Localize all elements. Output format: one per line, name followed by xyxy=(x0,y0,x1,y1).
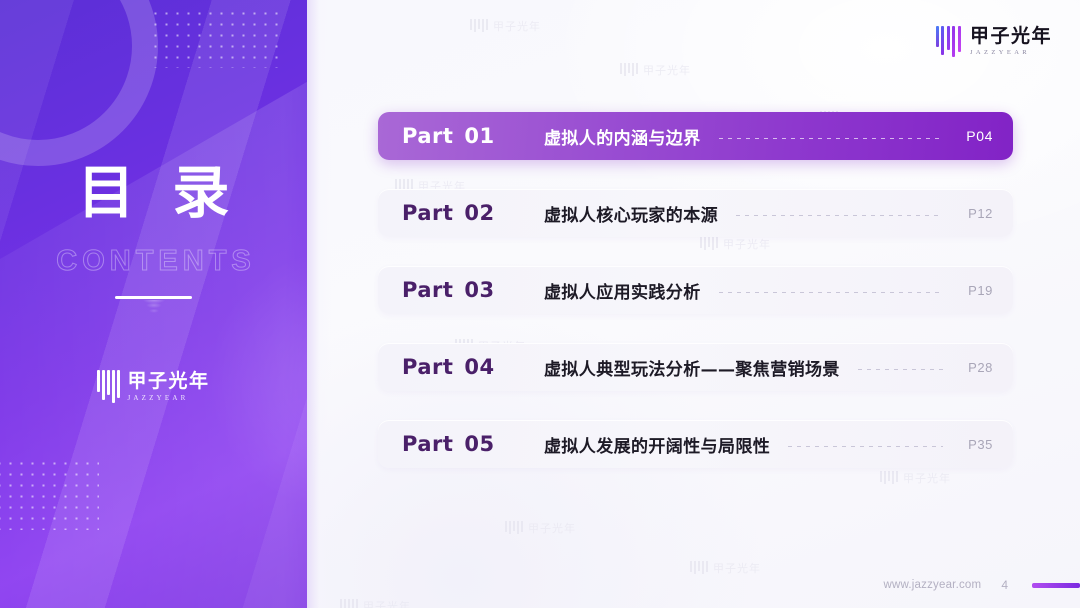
brand-logo-header: 甲子光年 JAZZYEAR xyxy=(936,26,1052,58)
toc-part-number: 03 xyxy=(464,278,494,302)
toc-part-number: 02 xyxy=(464,201,494,225)
toc-dotted-leader xyxy=(788,446,943,447)
toc-entry-title: 虚拟人核心玩家的本源 xyxy=(544,201,718,226)
page-title-english: CONTENTS xyxy=(0,247,307,276)
toc-page-number: P28 xyxy=(961,360,993,375)
left-cover-panel: 目 录 CONTENTS 甲子光年 JAZZYEAR xyxy=(0,0,307,608)
toc-part-word: Part xyxy=(402,355,453,379)
page-title: 目 录 xyxy=(0,165,307,222)
toc-dotted-leader xyxy=(719,292,943,293)
toc-part-label: Part03 xyxy=(402,278,524,302)
toc-row-04[interactable]: Part04虚拟人典型玩法分析——聚焦营销场景P28 xyxy=(378,343,1013,391)
toc-page-number: P19 xyxy=(961,283,993,298)
toc-row-01[interactable]: Part01虚拟人的内涵与边界P04 xyxy=(378,112,1013,160)
toc-row-03[interactable]: Part03虚拟人应用实践分析P19 xyxy=(378,266,1013,314)
toc-dotted-leader xyxy=(736,215,943,216)
toc-part-label: Part05 xyxy=(402,432,524,456)
footer-accent-bar xyxy=(1032,583,1080,588)
toc-entry-title: 虚拟人的内涵与边界 xyxy=(544,124,701,149)
table-of-contents: Part01虚拟人的内涵与边界P04Part02虚拟人核心玩家的本源P12Par… xyxy=(378,112,1013,468)
wave-accent-icon xyxy=(138,300,170,324)
toc-part-word: Part xyxy=(402,432,453,456)
toc-part-number: 04 xyxy=(464,355,494,379)
slide-root: 甲子光年甲子光年甲子光年甲子光年甲子光年甲子光年甲子光年甲子光年甲子光年甲子光年… xyxy=(0,0,1080,608)
toc-page-number: P35 xyxy=(961,437,993,452)
logo-name-en: JAZZYEAR xyxy=(128,395,210,402)
footer-page-number: 4 xyxy=(1001,578,1008,592)
logo-bars-icon xyxy=(97,370,120,404)
toc-part-word: Part xyxy=(402,278,453,302)
toc-part-word: Part xyxy=(402,124,453,148)
panel-edge-fade xyxy=(305,0,331,608)
toc-entry-title: 虚拟人发展的开阔性与局限性 xyxy=(544,432,770,457)
logo-name-cn: 甲子光年 xyxy=(970,27,1052,46)
toc-dotted-leader xyxy=(719,138,943,139)
toc-page-number: P12 xyxy=(961,206,993,221)
toc-row-05[interactable]: Part05虚拟人发展的开阔性与局限性P35 xyxy=(378,420,1013,468)
brand-logo-left: 甲子光年 JAZZYEAR xyxy=(97,370,210,404)
footer: www.jazzyear.com 4 xyxy=(884,578,1080,592)
toc-part-number: 01 xyxy=(464,124,494,148)
toc-entry-title: 虚拟人应用实践分析 xyxy=(544,278,701,303)
logo-name-cn: 甲子光年 xyxy=(128,372,210,391)
logo-name-en: JAZZYEAR xyxy=(970,50,1052,57)
toc-dotted-leader xyxy=(858,369,943,370)
toc-part-word: Part xyxy=(402,201,453,225)
title-divider xyxy=(115,296,192,299)
toc-part-label: Part01 xyxy=(402,124,524,148)
logo-bars-icon xyxy=(936,26,961,58)
toc-part-label: Part02 xyxy=(402,201,524,225)
toc-page-number: P04 xyxy=(961,128,993,144)
toc-entry-title: 虚拟人典型玩法分析——聚焦营销场景 xyxy=(544,355,840,380)
toc-part-label: Part04 xyxy=(402,355,524,379)
footer-website-url[interactable]: www.jazzyear.com xyxy=(884,579,982,591)
toc-row-02[interactable]: Part02虚拟人核心玩家的本源P12 xyxy=(378,189,1013,237)
toc-part-number: 05 xyxy=(464,432,494,456)
